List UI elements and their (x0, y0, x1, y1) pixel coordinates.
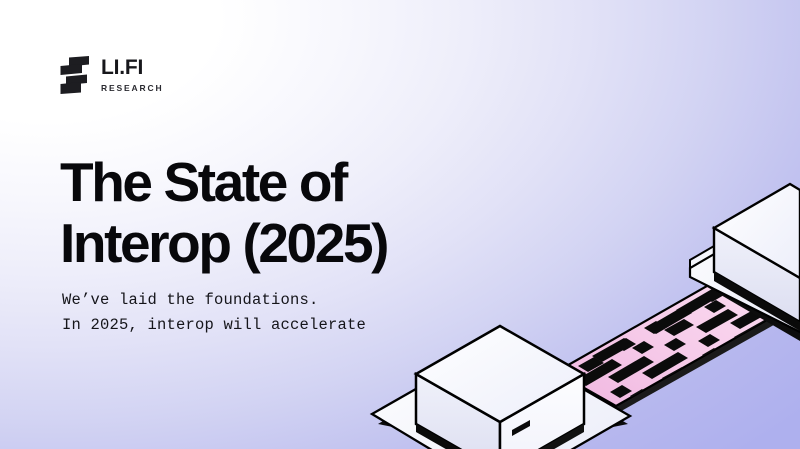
page-subtitle: We’ve laid the foundations. In 2025, int… (62, 288, 366, 338)
near-node (372, 326, 630, 449)
data-bridge (556, 248, 800, 434)
lifi-logo-mark-icon (60, 56, 90, 94)
logo-wordmark: LI.FI (101, 57, 164, 78)
logo-sub-wordmark: RESEARCH (101, 84, 164, 93)
logo-wordmark-group: LI.FI RESEARCH (101, 57, 164, 93)
far-node (690, 184, 800, 341)
node-port-marking (512, 420, 530, 436)
page-title: The State of Interop (2025) (60, 152, 387, 273)
report-cover: LI.FI RESEARCH The State of Interop (202… (0, 0, 800, 449)
logo-lockup[interactable]: LI.FI RESEARCH (60, 56, 164, 94)
